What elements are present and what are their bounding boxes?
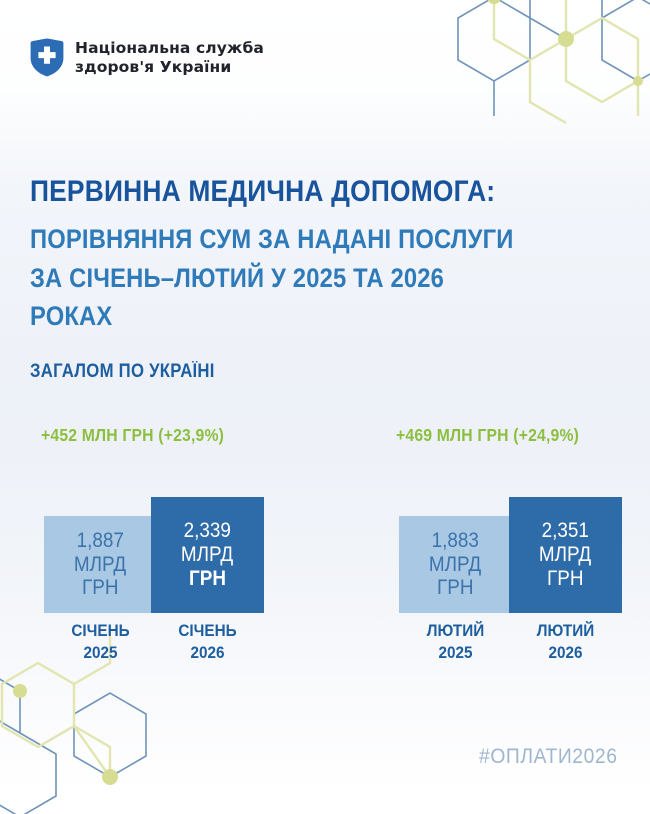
- chart-group-february: +469 МЛН ГРН (+24,9%) 1,883 МЛРД ГРН 2,3…: [385, 420, 650, 670]
- bars-february: 1,883 МЛРД ГРН 2,351 МЛРД ГРН: [385, 473, 650, 613]
- delta-label-february: +469 МЛН ГРН (+24,9%): [396, 425, 579, 446]
- bar-currency: ГРН: [437, 576, 473, 600]
- axis-label-month: ЛЮТИЙ: [515, 620, 617, 642]
- bar-unit: МЛРД: [74, 553, 126, 577]
- bar-unit: МЛРД: [539, 543, 591, 567]
- axis-label-january-2025: СІЧЕНЬ 2025: [44, 620, 157, 664]
- axis-label-february-2026: ЛЮТИЙ 2026: [509, 620, 622, 664]
- axis-label-month: СІЧЕНЬ: [50, 620, 152, 642]
- brand-header: Національна служба здоров'я України: [30, 38, 264, 77]
- title-line-2: ПОРІВНЯННЯ СУМ ЗА НАДАНІ ПОСЛУГИ: [30, 220, 549, 258]
- axis-label-year: 2025: [50, 642, 152, 664]
- bar-january-2026: 2,339 МЛРД ГРН: [151, 497, 264, 613]
- bar-february-2026: 2,351 МЛРД ГРН: [509, 497, 622, 613]
- bars-january: 1,887 МЛРД ГРН 2,339 МЛРД ГРН: [30, 473, 300, 613]
- axis-label-month: СІЧЕНЬ: [157, 620, 259, 642]
- brand-name-line1: Національна служба: [75, 39, 264, 58]
- bar-chart: +452 МЛН ГРН (+23,9%) 1,887 МЛРД ГРН 2,3…: [0, 420, 650, 670]
- bar-value: 1,887: [77, 529, 124, 553]
- bar-value: 1,883: [432, 529, 479, 553]
- bar-unit: МЛРД: [181, 543, 233, 567]
- bar-currency: ГРН: [82, 576, 118, 600]
- axis-label-january-2026: СІЧЕНЬ 2026: [151, 620, 264, 664]
- axis-label-month: ЛЮТИЙ: [405, 620, 507, 642]
- bar-february-2025: 1,883 МЛРД ГРН: [399, 516, 512, 613]
- bar-column-january-2025: 1,887 МЛРД ГРН: [44, 516, 157, 613]
- brand-name: Національна служба здоров'я України: [75, 39, 264, 77]
- bar-column-february-2026: 2,351 МЛРД ГРН: [509, 497, 622, 613]
- bar-currency: ГРН: [547, 567, 583, 591]
- bar-column-january-2026: 2,339 МЛРД ГРН: [151, 497, 264, 613]
- bar-value: 2,351: [542, 519, 589, 543]
- axis-label-year: 2026: [515, 642, 617, 664]
- bar-column-february-2025: 1,883 МЛРД ГРН: [399, 516, 512, 613]
- hashtag: #ОПЛАТИ2026: [479, 745, 617, 769]
- axis-label-year: 2025: [405, 642, 507, 664]
- hexagon-decoration-top-right: [368, 0, 650, 196]
- title-line-3: ЗА СІЧЕНЬ–ЛЮТИЙ У 2025 ТА 2026: [30, 259, 549, 297]
- shield-cross-icon: [30, 38, 64, 77]
- chart-group-january: +452 МЛН ГРН (+23,9%) 1,887 МЛРД ГРН 2,3…: [30, 420, 300, 670]
- bar-unit: МЛРД: [429, 553, 481, 577]
- axis-label-february-2025: ЛЮТИЙ 2025: [399, 620, 512, 664]
- page-title: ПЕРВИННА МЕДИЧНА ДОПОМОГА: ПОРІВНЯННЯ СУ…: [30, 176, 620, 335]
- infographic-page: Національна служба здоров'я України ПЕРВ…: [0, 0, 650, 814]
- bar-january-2025: 1,887 МЛРД ГРН: [44, 516, 157, 613]
- bar-value: 2,339: [184, 519, 231, 543]
- page-subtitle: ЗАГАЛОМ ПО УКРАЇНІ: [30, 361, 215, 383]
- brand-name-line2: здоров'я України: [75, 58, 264, 77]
- axis-label-year: 2026: [157, 642, 259, 664]
- bar-currency: ГРН: [189, 567, 226, 591]
- title-line-1: ПЕРВИННА МЕДИЧНА ДОПОМОГА:: [30, 176, 549, 208]
- title-line-4: РОКАХ: [30, 297, 549, 335]
- delta-label-january: +452 МЛН ГРН (+23,9%): [41, 425, 224, 446]
